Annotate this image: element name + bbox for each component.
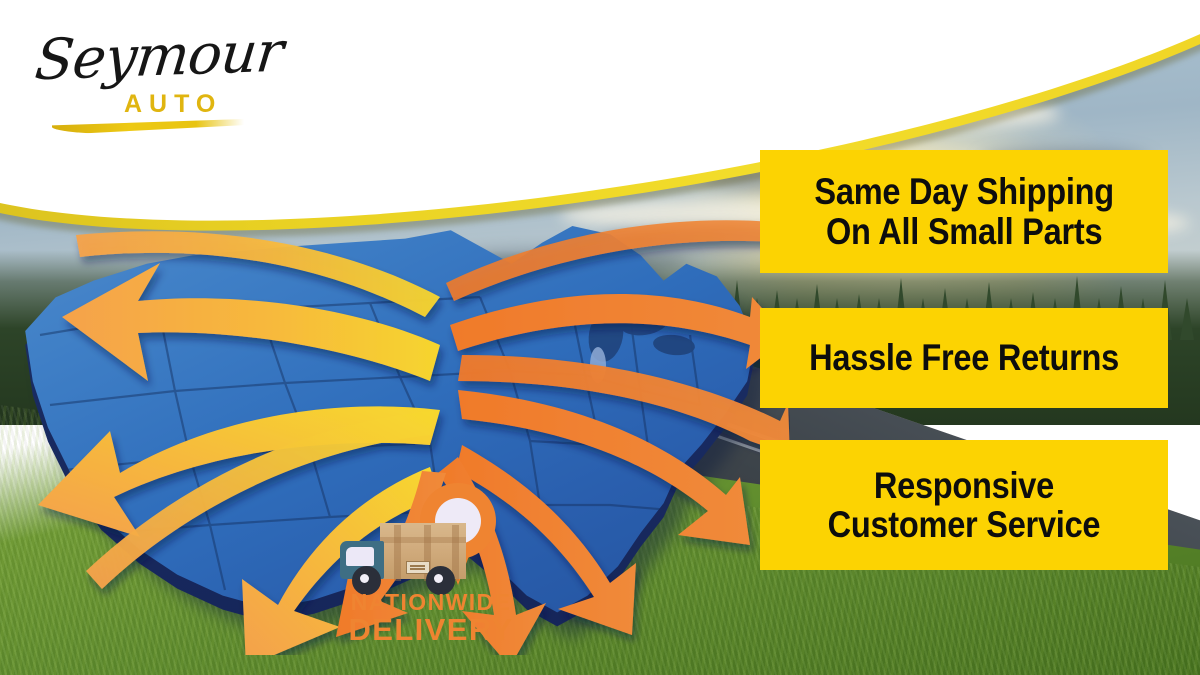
logo-sub-name: AUTO bbox=[124, 90, 222, 119]
callout-same-day-shipping[interactable]: Same Day Shipping On All Small Parts bbox=[760, 150, 1168, 273]
callout-text: Same Day Shipping On All Small Parts bbox=[814, 172, 1113, 250]
delivery-caption-line1: NATIONWIDE bbox=[336, 591, 526, 613]
delivery-caption: NATIONWIDE DELIVERY bbox=[336, 591, 526, 645]
promo-banner: Seymour AUTO bbox=[0, 0, 1200, 675]
delivery-caption-line2: DELIVERY bbox=[336, 615, 526, 645]
nationwide-delivery-badge: NATIONWIDE DELIVERY bbox=[340, 483, 520, 653]
delivery-truck-icon bbox=[340, 521, 470, 595]
usa-map: NATIONWIDE DELIVERY bbox=[10, 205, 790, 655]
callout-responsive-customer-service[interactable]: Responsive Customer Service bbox=[760, 440, 1168, 570]
callout-text: Responsive Customer Service bbox=[828, 466, 1101, 544]
callout-hassle-free-returns[interactable]: Hassle Free Returns bbox=[760, 308, 1168, 408]
callout-text: Hassle Free Returns bbox=[809, 338, 1119, 377]
logo-script-name: Seymour bbox=[32, 20, 286, 94]
brand-logo[interactable]: Seymour AUTO bbox=[24, 18, 264, 130]
